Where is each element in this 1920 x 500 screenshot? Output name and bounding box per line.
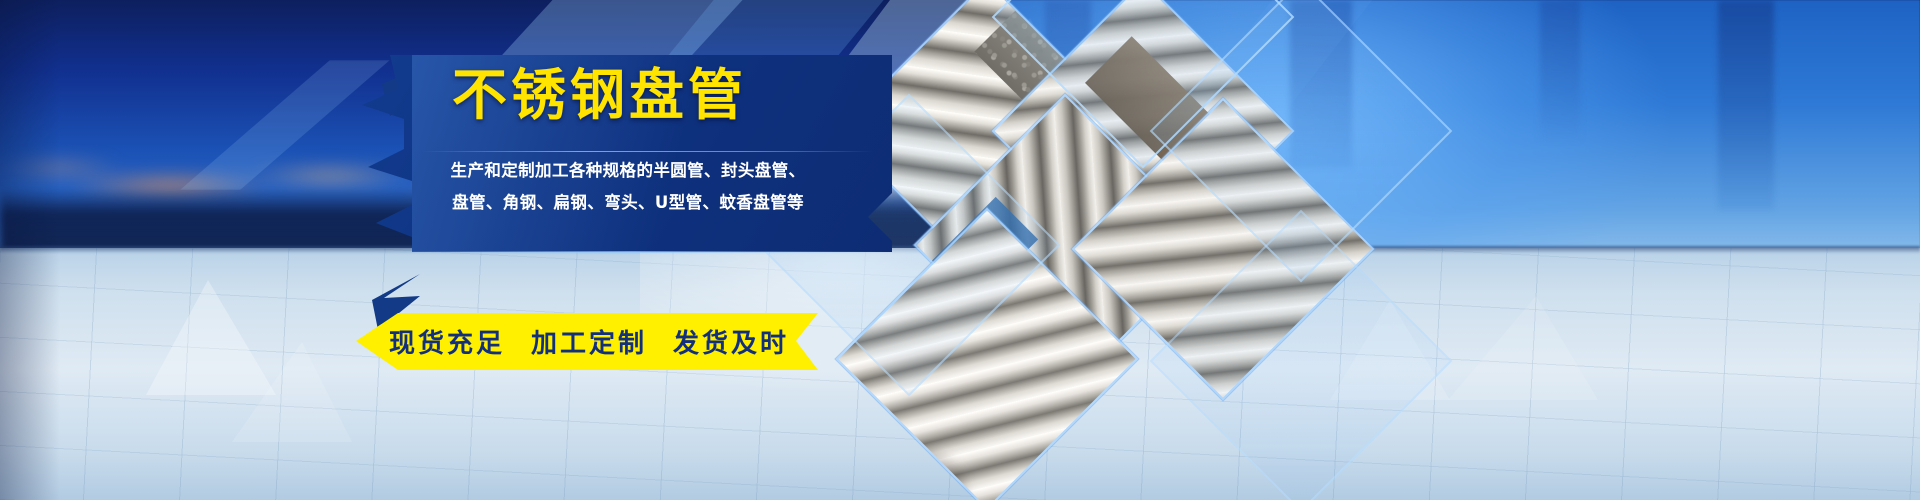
headline-panel-underline [372, 251, 892, 253]
selling-points-ribbon: 现货充足 加工定制 发货及时 [356, 313, 818, 370]
selling-point-stock: 现货充足 [389, 323, 505, 360]
page-title: 不锈钢盘管 [452, 67, 872, 123]
selling-point-shipping: 发货及时 [673, 323, 789, 360]
selling-point-custom: 加工定制 [531, 323, 647, 360]
headline-panel: 不锈钢盘管 生产和定制加工各种规格的半圆管、封头盘管、 盘管、角钢、扁钢、弯头、… [352, 55, 892, 252]
ribbon-text-group: 现货充足 加工定制 发货及时 [398, 313, 780, 370]
photo-collage [820, 0, 1340, 500]
skyline-tower-3 [1540, 0, 1580, 140]
hero-banner: 不锈钢盘管 生产和定制加工各种规格的半圆管、封头盘管、 盘管、角钢、扁钢、弯头、… [0, 0, 1920, 500]
subtitle-line-1: 生产和定制加工各种规格的半圆管、封头盘管、 [408, 157, 848, 181]
subtitle-line-2: 盘管、角钢、扁钢、弯头、U型管、蚊香盘管等 [408, 189, 848, 213]
headline-divider [422, 151, 874, 152]
skyline-tower-4 [1718, 0, 1774, 210]
